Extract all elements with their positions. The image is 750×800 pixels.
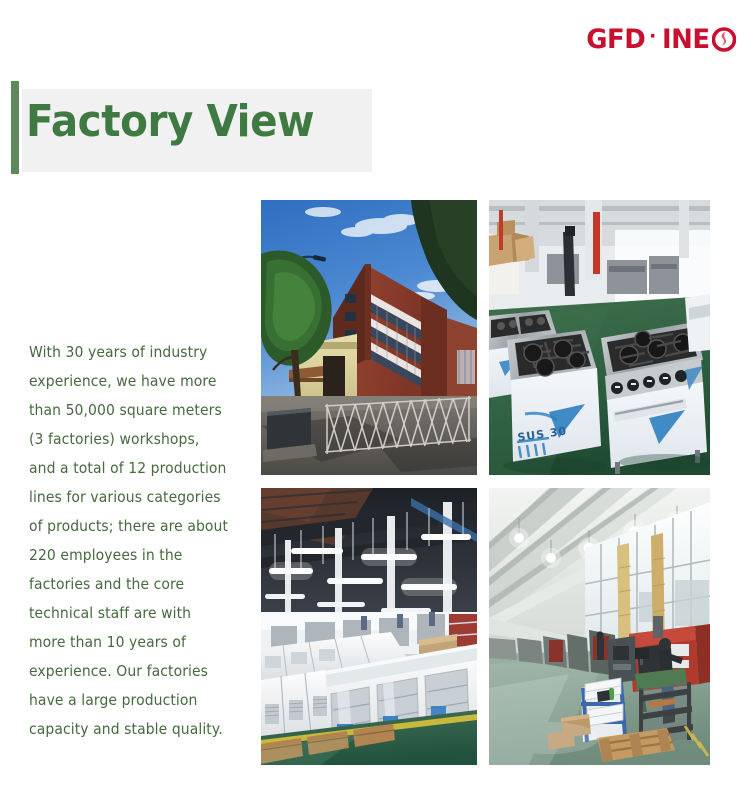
brand-logo-separator: · <box>649 25 657 49</box>
intro-paragraph: With 30 years of industry experience, we… <box>29 338 229 744</box>
brand-logo-word-gfd: GFD <box>586 26 645 53</box>
title-accent-bar <box>11 81 19 174</box>
brand-logo: GFD · INE <box>585 24 736 54</box>
photo-stove-warehouse: SUS 30 <box>489 200 710 475</box>
page-title: Factory View <box>26 100 314 144</box>
brand-logo-word-ineo: INE <box>662 26 710 53</box>
photo-machine-shop <box>489 488 710 765</box>
photo-assembly-line <box>261 488 477 765</box>
photo-factory-exterior <box>261 200 477 475</box>
flame-circle-icon <box>712 26 736 52</box>
